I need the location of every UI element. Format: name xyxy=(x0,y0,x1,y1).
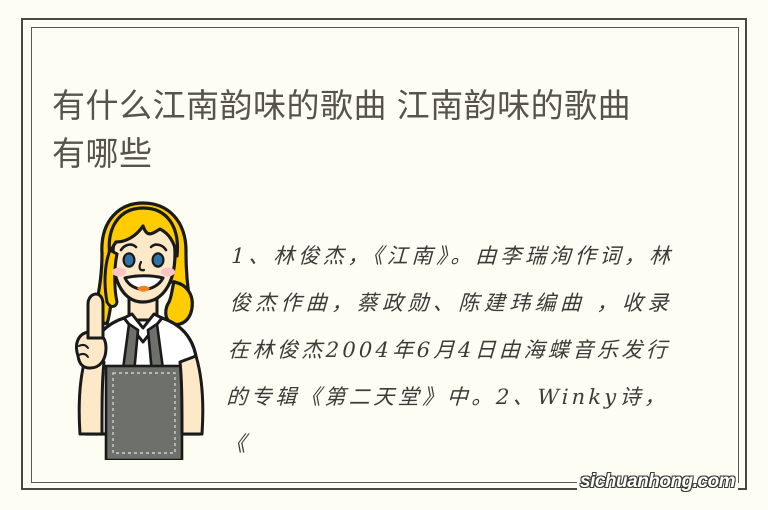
cartoon-girl-illustration xyxy=(72,198,214,460)
site-watermark: sichuanhong.com xyxy=(577,472,738,492)
page-canvas: 有什么江南韵味的歌曲 江南韵味的歌曲有哪些 xyxy=(0,0,768,510)
page-title: 有什么江南韵味的歌曲 江南韵味的歌曲有哪些 xyxy=(52,82,662,178)
pointing-hand-group xyxy=(76,294,106,434)
article-body: 1、林俊杰，《江南》。由李瑞洵作词，林俊杰作曲，蔡政勋、陈建玮编曲 ，收录在林俊… xyxy=(224,233,674,468)
